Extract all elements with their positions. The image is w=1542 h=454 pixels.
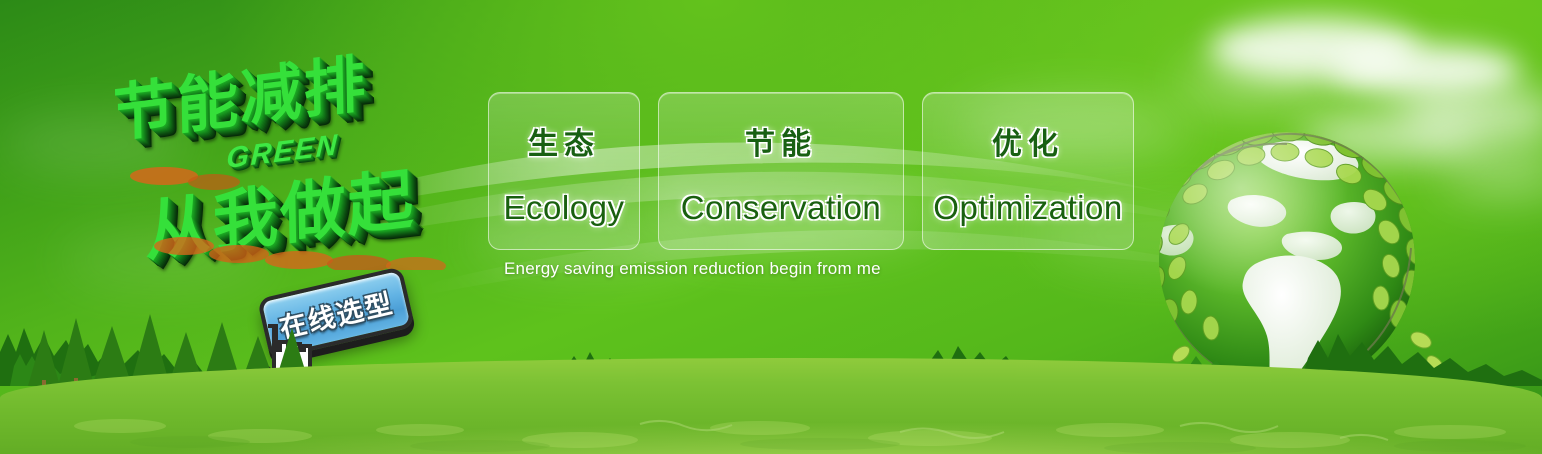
feature-card-cn-label: 生态 xyxy=(528,119,600,163)
feature-card-en-label: Ecology xyxy=(504,189,625,227)
feature-card-conservation[interactable]: 节能 Conservation xyxy=(658,92,904,250)
grass-field-icon xyxy=(0,358,1542,454)
feature-card-cn-label: 优化 xyxy=(992,119,1064,163)
eco-banner: 节能减排 GREEN 从我做起 在线选型 生态 Ecology 节能 Conse… xyxy=(0,0,1542,454)
feature-card-en-label: Conservation xyxy=(681,189,881,227)
online-selection-button[interactable]: 在线选型 xyxy=(257,266,415,360)
feature-card-en-label: Optimization xyxy=(933,189,1122,227)
cloud-icon xyxy=(1180,60,1330,104)
headline-logo: 节能减排 GREEN 从我做起 xyxy=(104,40,494,270)
feature-card-cn-label: 节能 xyxy=(745,119,817,163)
online-selection-label: 在线选型 xyxy=(275,281,397,345)
tagline-text: Energy saving emission reduction begin f… xyxy=(504,259,881,279)
cloud-icon xyxy=(1210,18,1420,80)
headline-line-2: 从我做起 xyxy=(144,145,416,275)
feature-card-list: 生态 Ecology 节能 Conservation 优化 Optimizati… xyxy=(488,92,1134,250)
grass-texture xyxy=(0,384,1542,454)
cloud-icon xyxy=(1440,150,1542,194)
feature-card-ecology[interactable]: 生态 Ecology xyxy=(488,92,640,250)
cloud-icon xyxy=(1330,44,1520,96)
feature-card-optimization[interactable]: 优化 Optimization xyxy=(922,92,1134,250)
